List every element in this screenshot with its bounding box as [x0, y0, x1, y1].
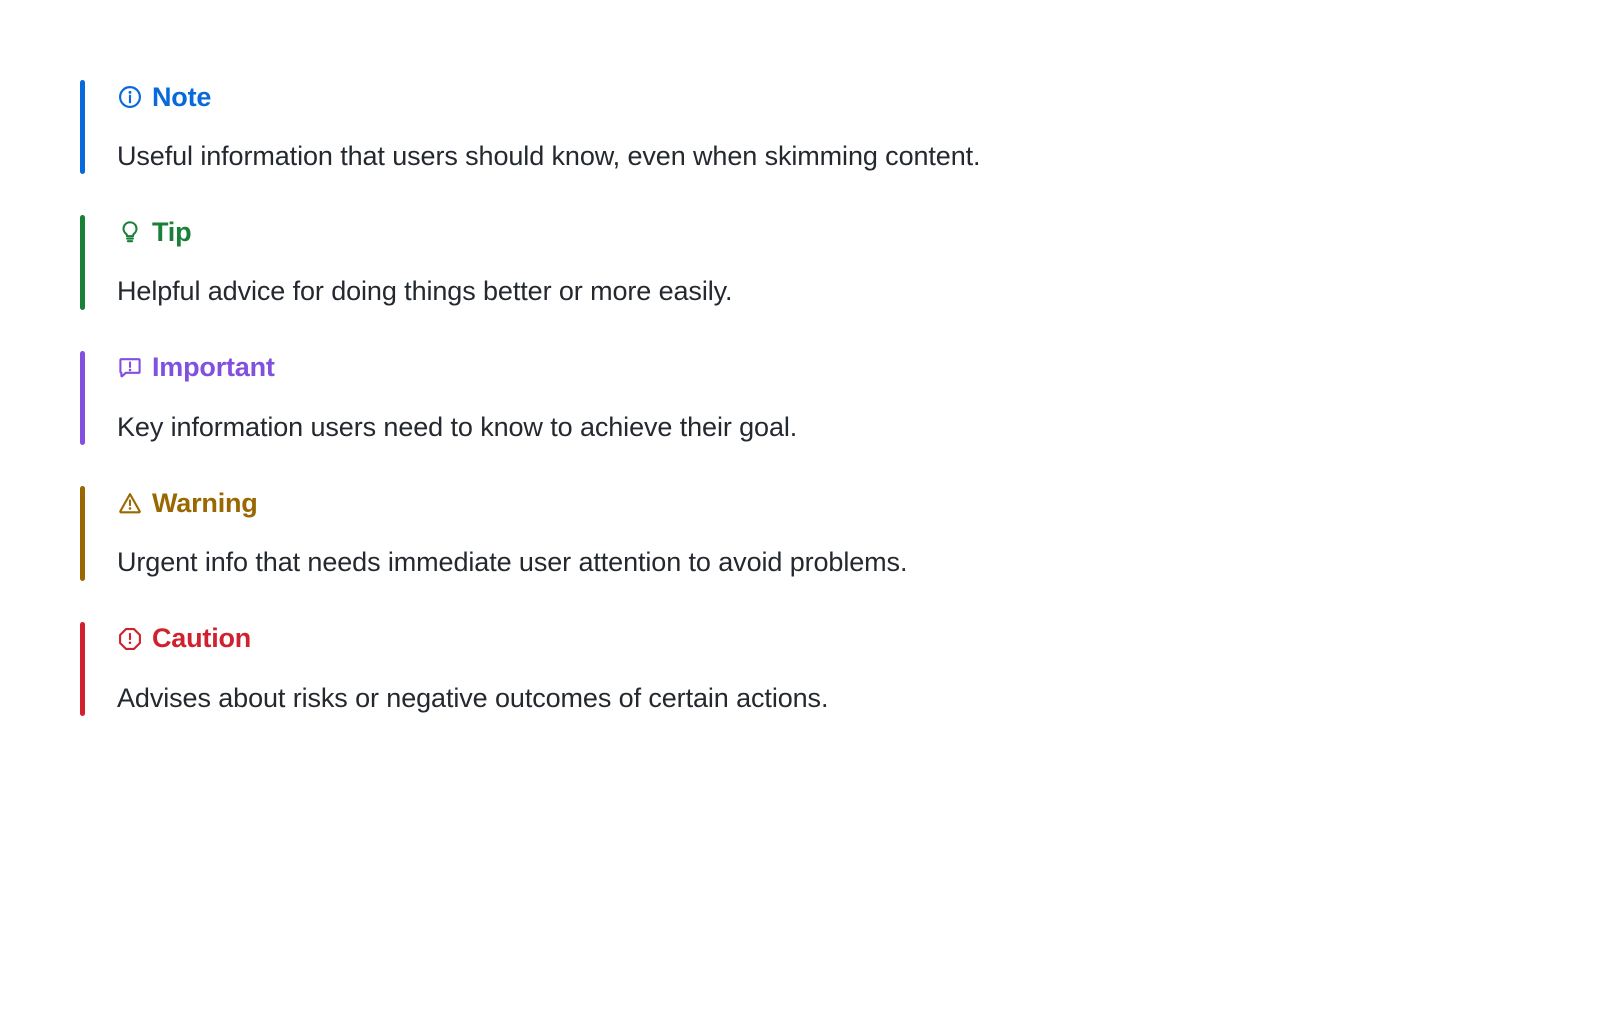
alert-accent-bar-warning — [80, 486, 85, 580]
alert-warning: Warning Urgent info that needs immediate… — [80, 486, 1600, 580]
alert-header-important: Important — [117, 351, 1600, 385]
alert-title-tip: Tip — [152, 219, 191, 246]
alert-accent-bar-note — [80, 80, 85, 174]
alert-title-warning: Warning — [152, 490, 258, 517]
alert-header-note: Note — [117, 80, 1600, 114]
alert-accent-bar-caution — [80, 622, 85, 716]
alert-body-important: Key information users need to know to ac… — [117, 409, 1600, 445]
lightbulb-icon — [117, 219, 143, 245]
alert-header-caution: Caution — [117, 622, 1600, 656]
octagon-exclamation-icon — [117, 626, 143, 652]
alert-body-tip: Helpful advice for doing things better o… — [117, 273, 1600, 309]
alert-title-caution: Caution — [152, 625, 251, 652]
alert-accent-bar-important — [80, 351, 85, 445]
alert-tip: Tip Helpful advice for doing things bett… — [80, 215, 1600, 309]
alert-caution: Caution Advises about risks or negative … — [80, 622, 1600, 716]
alert-header-tip: Tip — [117, 215, 1600, 249]
alert-body-warning: Urgent info that needs immediate user at… — [117, 544, 1600, 580]
alert-accent-bar-tip — [80, 215, 85, 309]
info-circle-icon — [117, 84, 143, 110]
alert-title-note: Note — [152, 84, 211, 111]
alert-note: Note Useful information that users shoul… — [80, 80, 1600, 174]
speech-bubble-exclamation-icon — [117, 355, 143, 381]
triangle-alert-icon — [117, 490, 143, 516]
alert-header-warning: Warning — [117, 486, 1600, 520]
alert-body-note: Useful information that users should kno… — [117, 138, 1600, 174]
alert-title-important: Important — [152, 354, 275, 381]
alert-body-caution: Advises about risks or negative outcomes… — [117, 680, 1600, 716]
alerts-page: Note Useful information that users shoul… — [0, 0, 1600, 1010]
alert-important: Important Key information users need to … — [80, 351, 1600, 445]
